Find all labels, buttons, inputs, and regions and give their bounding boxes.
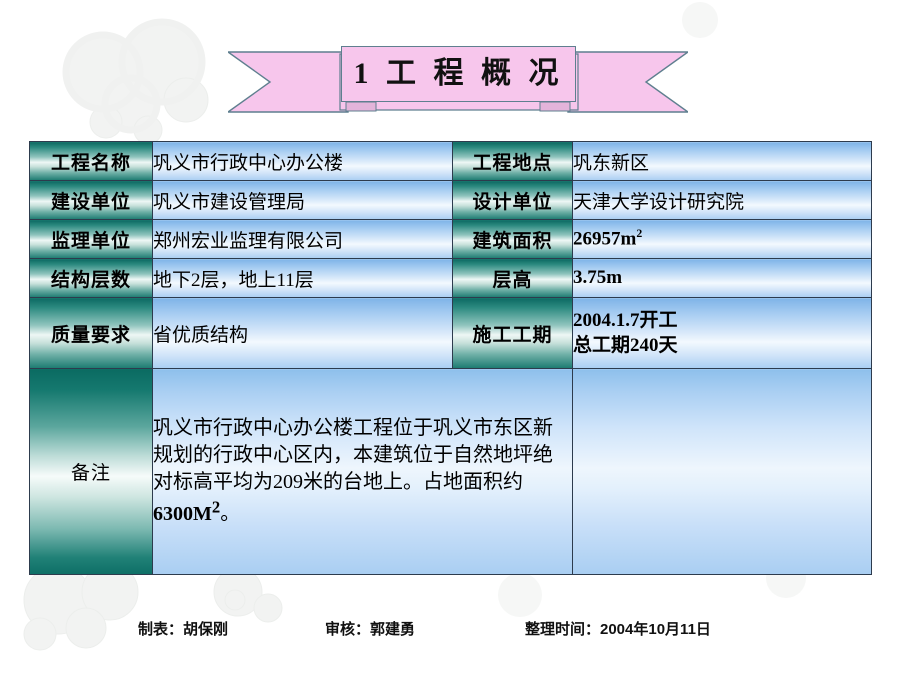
row-value-construction-unit: 巩义市建设管理局 xyxy=(153,181,453,220)
row-label-remarks: 备注 xyxy=(30,369,153,575)
banner-title-plaque: 1 工 程 概 况 xyxy=(341,46,576,102)
construction-period-line2: 总工期240天 xyxy=(573,333,871,358)
table-row: 工程名称 巩义市行政中心办公楼 工程地点 巩东新区 xyxy=(30,142,872,181)
row-label-project-location: 工程地点 xyxy=(453,142,573,181)
row-label-supervision-unit: 监理单位 xyxy=(30,220,153,259)
section-banner: 1 工 程 概 况 xyxy=(228,44,688,120)
row-label-floor-height: 层高 xyxy=(453,259,573,298)
table-row: 结构层数 地下2层，地上11层 层高 3.75m xyxy=(30,259,872,298)
row-value-supervision-unit: 郑州宏业监理有限公司 xyxy=(153,220,453,259)
footer-compiled-time: 整理时间：2004年10月11日 xyxy=(525,618,711,639)
banner-title-text: 1 工 程 概 况 xyxy=(354,59,564,89)
construction-period-line1: 2004.1.7开工 xyxy=(573,308,871,333)
remarks-line-3: 对标高平均为209米的台地上。占地面积约 xyxy=(153,469,572,496)
footer-reviewed-by: 审核：郭建勇 xyxy=(325,618,415,639)
remarks-line-1: 巩义市行政中心办公楼工程位于巩义市东区新 xyxy=(153,415,572,442)
row-value-construction-period: 2004.1.7开工 总工期240天 xyxy=(573,298,872,369)
row-value-structure-floors: 地下2层，地上11层 xyxy=(153,259,453,298)
row-label-construction-unit: 建设单位 xyxy=(30,181,153,220)
floor-area-superscript: 2 xyxy=(636,227,642,240)
footer-prepared-by: 制表：胡保刚 xyxy=(138,618,228,639)
row-label-floor-area: 建筑面积 xyxy=(453,220,573,259)
remarks-line-4: 6300M2。 xyxy=(153,496,572,528)
remarks-area-superscript: 2 xyxy=(212,497,220,516)
table-row: 建设单位 巩义市建设管理局 设计单位 天津大学设计研究院 xyxy=(30,181,872,220)
row-value-remarks: 巩义市行政中心办公楼工程位于巩义市东区新 规划的行政中心区内，本建筑位于自然地坪… xyxy=(153,369,573,575)
remarks-area-tail: 。 xyxy=(220,503,240,525)
row-value-design-unit: 天津大学设计研究院 xyxy=(573,181,872,220)
row-value-project-location: 巩东新区 xyxy=(573,142,872,181)
row-label-project-name: 工程名称 xyxy=(30,142,153,181)
project-overview-table: 工程名称 巩义市行政中心办公楼 工程地点 巩东新区 建设单位 巩义市建设管理局 … xyxy=(29,141,872,575)
row-value-floor-area: 26957m2 xyxy=(573,220,872,259)
row-label-quality-requirement: 质量要求 xyxy=(30,298,153,369)
row-value-floor-height: 3.75m xyxy=(573,259,872,298)
table-row: 质量要求 省优质结构 施工工期 2004.1.7开工 总工期240天 xyxy=(30,298,872,369)
row-label-structure-floors: 结构层数 xyxy=(30,259,153,298)
floor-area-number: 26957m xyxy=(573,229,636,250)
remarks-line-2: 规划的行政中心区内，本建筑位于自然地坪绝 xyxy=(153,442,572,469)
table-row: 监理单位 郑州宏业监理有限公司 建筑面积 26957m2 xyxy=(30,220,872,259)
row-value-quality-requirement: 省优质结构 xyxy=(153,298,453,369)
remarks-empty-cell xyxy=(573,369,872,575)
row-label-construction-period: 施工工期 xyxy=(453,298,573,369)
row-value-project-name: 巩义市行政中心办公楼 xyxy=(153,142,453,181)
remarks-area-number: 6300M xyxy=(153,503,212,525)
row-label-design-unit: 设计单位 xyxy=(453,181,573,220)
table-row-remarks: 备注 巩义市行政中心办公楼工程位于巩义市东区新 规划的行政中心区内，本建筑位于自… xyxy=(30,369,872,575)
